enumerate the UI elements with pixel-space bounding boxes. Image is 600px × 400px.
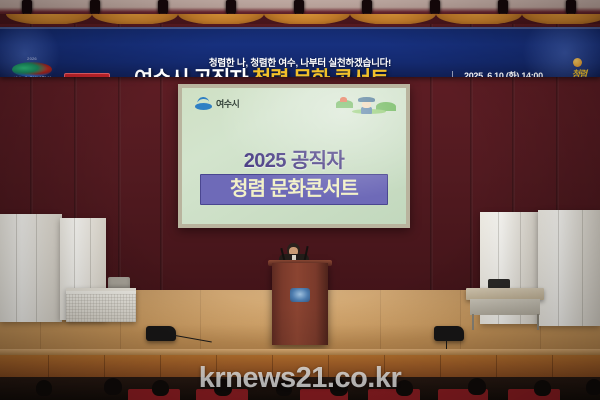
stage-light-icon: [430, 0, 440, 15]
banner-divider: [452, 71, 453, 77]
banner-title: 여수시 공직자 청렴 문화 콘서트: [134, 69, 388, 77]
banner-date: 2025. 6.10.(화) 14:00: [464, 71, 543, 77]
white-drape-panel: [0, 214, 62, 322]
stage-light-icon: [566, 0, 576, 15]
folding-table-apron: [470, 299, 540, 315]
stage-light-icon: [294, 0, 304, 15]
watermark: krnews21.co.kr: [0, 362, 600, 395]
stage-light-icon: [226, 0, 236, 15]
projection-screen: 여수시 2025 공직자 청렴 문화콘서트: [178, 84, 410, 228]
stage-monitor-speaker: [434, 326, 464, 341]
draped-table: [66, 288, 136, 322]
projected-slide: 여수시 2025 공직자 청렴 문화콘서트: [182, 88, 406, 224]
stage-light-icon: [158, 0, 168, 15]
year-badge: 2025년: [64, 73, 110, 77]
stage-light-icon: [22, 0, 32, 15]
event-banner: 2026 여수세계섬박람회 2026.9.5.~11.4. 청렴한 나, 청렴한…: [0, 27, 600, 77]
screen-glare: [182, 88, 406, 224]
banner-title-white: 여수시 공직자: [134, 68, 247, 77]
integrity-seal-icon: 청렴 여수: [562, 60, 596, 77]
seal-line1: 청렴: [562, 67, 596, 77]
stage-light-icon: [362, 0, 372, 15]
photo-scene: 2026 여수세계섬박람회 2026.9.5.~11.4. 청렴한 나, 청렴한…: [0, 0, 600, 400]
yeosu-city-emblem-icon: [290, 288, 310, 302]
white-drape-panel: [538, 210, 600, 326]
lectern: [272, 263, 328, 345]
banner-subtitle: 청렴한 나, 청렴한 여수, 나부터 실천하겠습니다!: [0, 55, 600, 69]
banner-title-gold: 청렴 문화 콘서트: [252, 68, 388, 77]
stage-light-icon: [498, 0, 508, 15]
stage-light-icon: [90, 0, 100, 15]
banner-date-block: 2025. 6.10.(화) 14:00 여수문화홀: [464, 71, 543, 77]
